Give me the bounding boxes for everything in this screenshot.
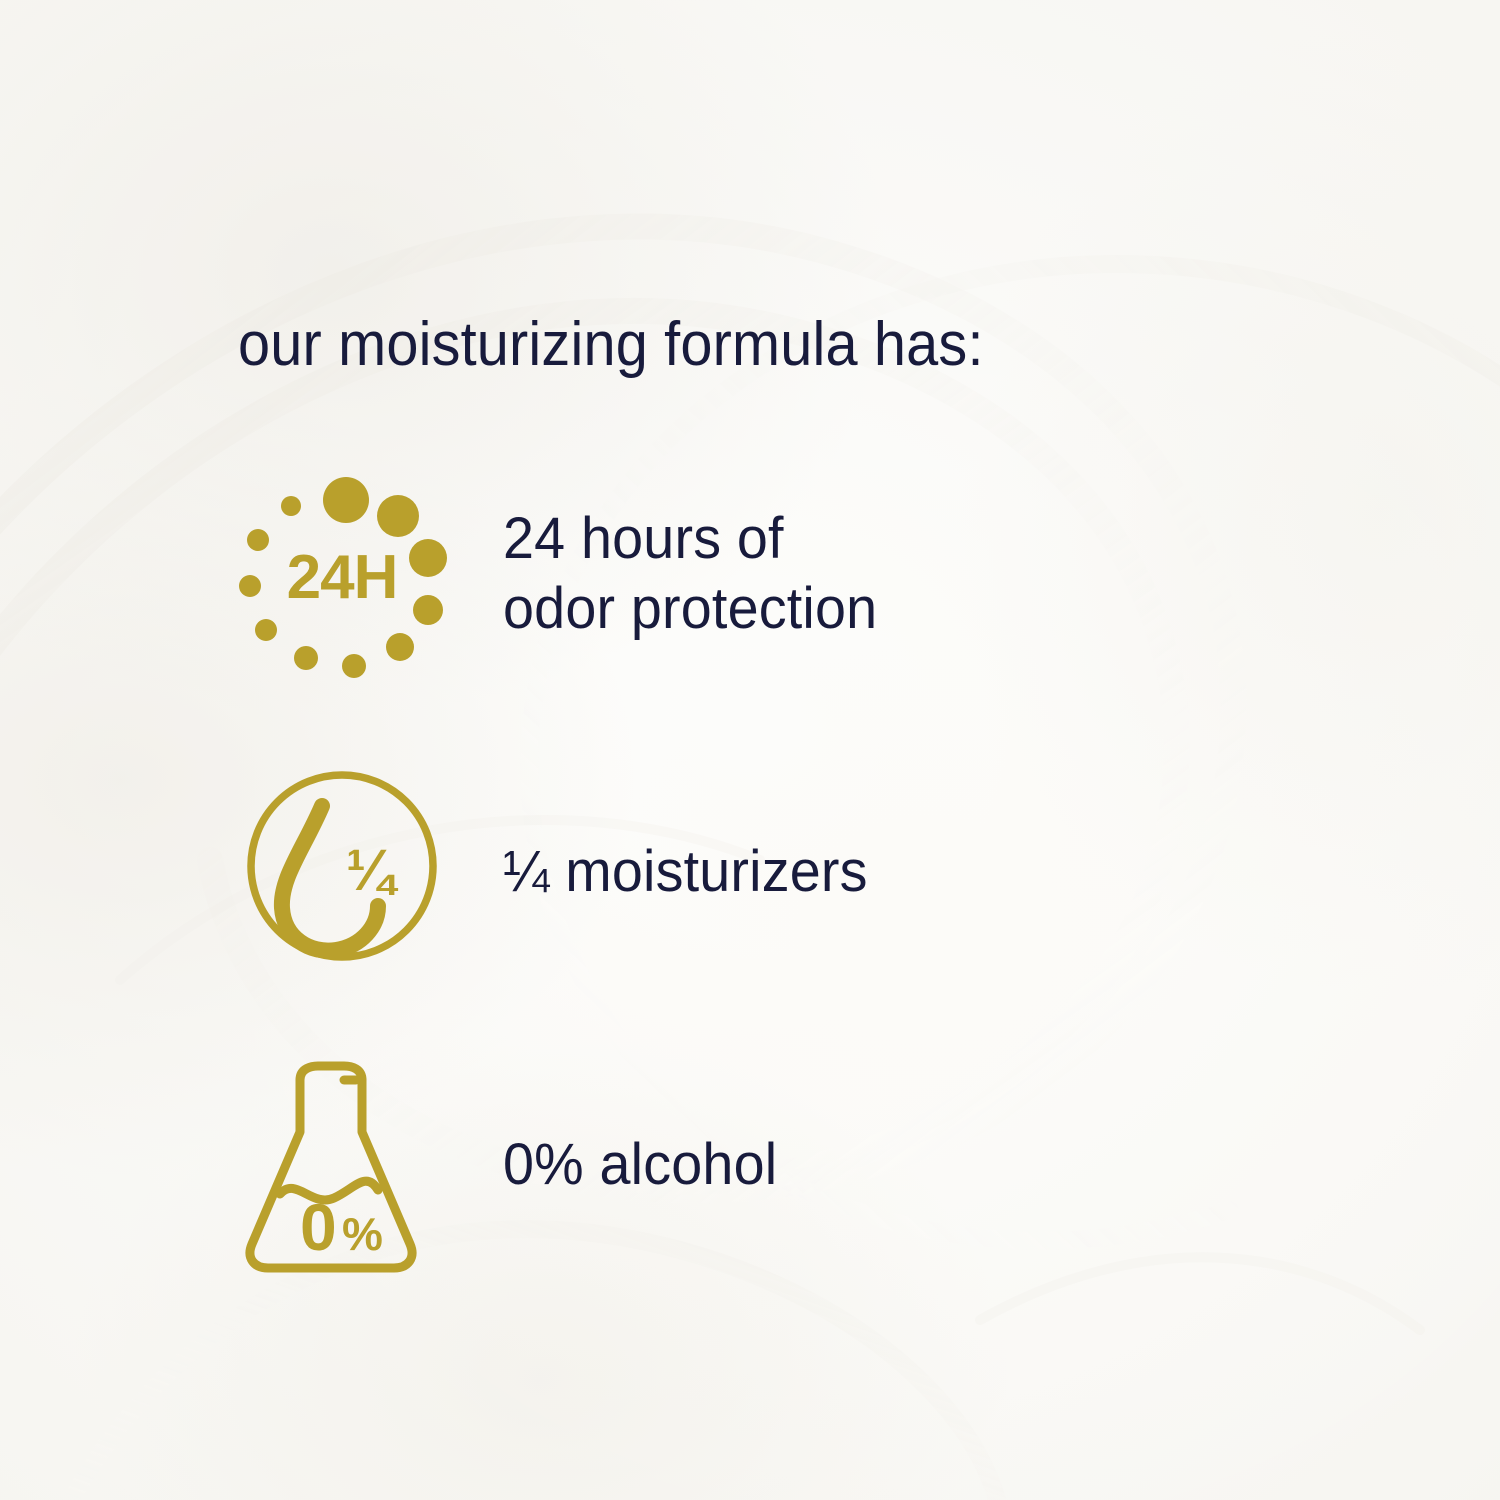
feature-row: 0 % 0% alcohol — [0, 1058, 1500, 1278]
page-title: our moisturizing formula has: — [238, 314, 984, 376]
feature-text-line: 24 hours of — [503, 504, 877, 574]
feature-text-alcohol: 0% alcohol — [503, 1130, 777, 1200]
feature-text-line: 0% alcohol — [503, 1130, 777, 1200]
feature-text-line: ¼ moisturizers — [503, 837, 868, 907]
feature-row: 24H 24 hours of odor protection — [0, 470, 1500, 710]
droplet-icon-label: ¼ — [346, 838, 399, 903]
feature-text-line: odor protection — [503, 574, 877, 644]
flask-icon-label-number: 0 — [300, 1190, 337, 1264]
flask-icon: 0 % — [238, 1058, 438, 1279]
feature-text-moisturizers: ¼ moisturizers — [503, 837, 868, 907]
24h-icon-label: 24H — [287, 543, 398, 612]
flask-icon-label-unit: % — [342, 1208, 383, 1260]
droplet-outer-circle — [251, 775, 433, 957]
feature-text-odor: 24 hours of odor protection — [503, 504, 877, 644]
24h-dots-icon: 24H — [238, 470, 454, 691]
droplet-circle-icon: ¼ — [238, 762, 454, 983]
feature-row: ¼ ¼ moisturizers — [0, 762, 1500, 1002]
